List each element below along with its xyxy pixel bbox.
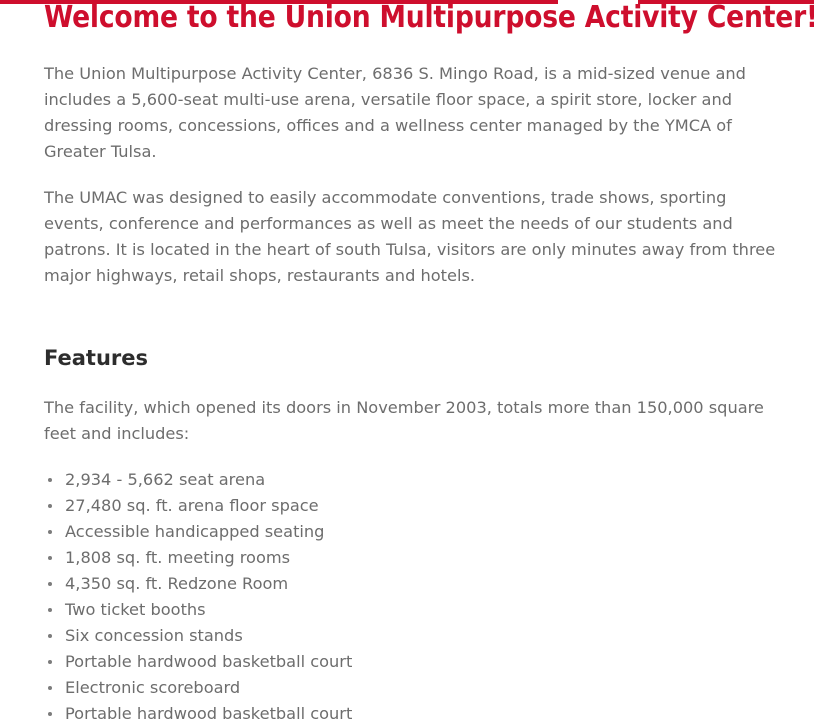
- intro-paragraph-1: The Union Multipurpose Activity Center, …: [44, 61, 790, 165]
- features-heading: Features: [44, 345, 790, 371]
- intro-paragraph-2: The UMAC was designed to easily accommod…: [44, 185, 790, 289]
- page-title: Welcome to the Union Multipurpose Activi…: [44, 1, 779, 35]
- list-item: Two ticket booths: [44, 597, 790, 623]
- list-item: 2,934 - 5,662 seat arena: [44, 467, 790, 493]
- list-item: Portable hardwood basketball court: [44, 701, 790, 727]
- features-list: 2,934 - 5,662 seat arena 27,480 sq. ft. …: [44, 467, 790, 727]
- page-content: Welcome to the Union Multipurpose Activi…: [0, 0, 814, 683]
- list-item: Six concession stands: [44, 623, 790, 649]
- list-item: 1,808 sq. ft. meeting rooms: [44, 545, 790, 571]
- list-item: Electronic scoreboard: [44, 675, 790, 701]
- list-item: 27,480 sq. ft. arena floor space: [44, 493, 790, 519]
- list-item: Accessible handicapped seating: [44, 519, 790, 545]
- list-item: 4,350 sq. ft. Redzone Room: [44, 571, 790, 597]
- list-item: Portable hardwood basketball court: [44, 649, 790, 675]
- features-intro-paragraph: The facility, which opened its doors in …: [44, 395, 790, 447]
